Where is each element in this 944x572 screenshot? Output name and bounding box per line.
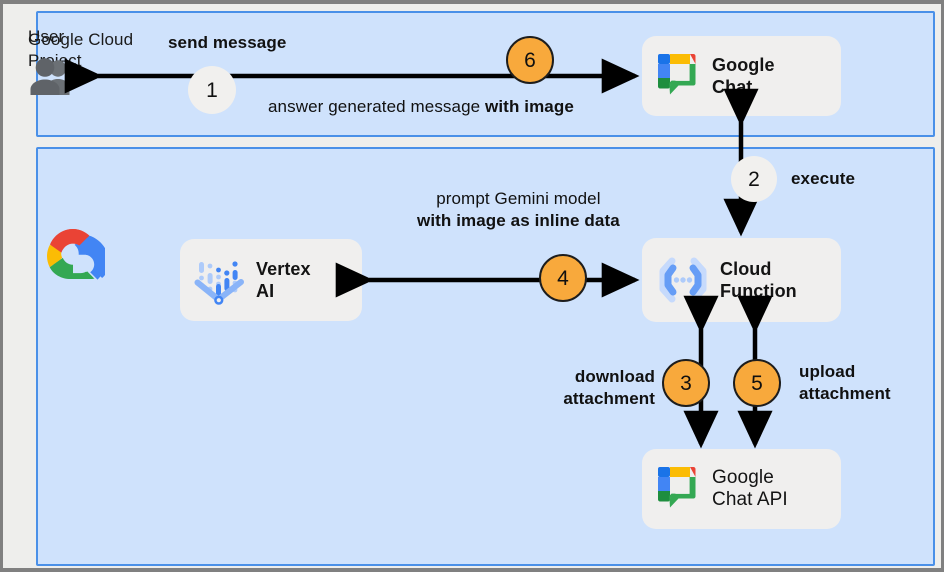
edge-label-execute-text: execute	[791, 169, 855, 188]
google-chat-icon	[656, 51, 702, 101]
edge-label-upload-attachment: upload attachment	[799, 361, 891, 405]
edge-label-execute: execute	[791, 168, 855, 190]
google-cloud-logo	[41, 226, 105, 284]
edge-label-upload-line1: upload	[799, 361, 891, 383]
google-chat-icon	[656, 464, 702, 514]
edge-label-upload-line2: attachment	[799, 383, 891, 405]
cloud-function-icon	[656, 255, 710, 305]
edge-label-answer-text: answer generated message	[268, 97, 485, 116]
edge-label-prompt-line1: prompt Gemini model	[417, 188, 620, 210]
card-vertex-ai[interactable]: Vertex AI	[180, 239, 362, 321]
card-google-chat[interactable]: Google Chat	[642, 36, 841, 116]
edge-label-download-line1: download	[535, 366, 655, 388]
step-badge-3: 3	[662, 359, 710, 407]
card-cloud-function[interactable]: Cloud Function	[642, 238, 841, 322]
edge-label-answer-generated: answer generated message with image	[268, 96, 574, 118]
vertex-ai-icon	[194, 253, 246, 307]
step-badge-2: 2	[731, 156, 777, 202]
card-cloud-function-label: Cloud Function	[720, 258, 797, 302]
edge-label-send-message-text: send message	[168, 33, 286, 52]
edge-label-prompt-gemini: prompt Gemini model with image as inline…	[417, 188, 620, 232]
diagram-canvas: User Google Cloud Project	[0, 0, 944, 572]
card-google-chat-api-label: Google Chat API	[712, 467, 788, 511]
edge-label-download-line2: attachment	[535, 388, 655, 410]
card-vertex-ai-label: Vertex AI	[256, 258, 311, 302]
edge-label-send-message: send message	[168, 32, 286, 54]
step-badge-6: 6	[506, 36, 554, 84]
step-badge-4: 4	[539, 254, 587, 302]
step-badge-5: 5	[733, 359, 781, 407]
card-google-chat-api[interactable]: Google Chat API	[642, 449, 841, 529]
edge-label-download-attachment: download attachment	[535, 366, 655, 410]
step-badge-1: 1	[188, 66, 236, 114]
edge-label-answer-bold: with image	[485, 97, 574, 116]
users-icon	[27, 58, 79, 96]
edge-label-prompt-line2: with image as inline data	[417, 210, 620, 232]
card-google-chat-label: Google Chat	[712, 54, 775, 98]
